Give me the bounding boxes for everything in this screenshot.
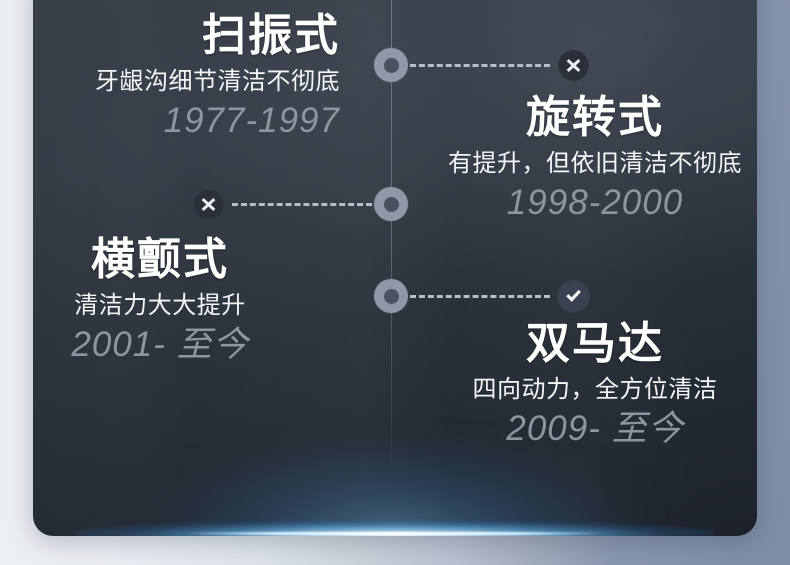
entry-text-lateral-vibration: 横颤式 清洁力大大提升 2001- 至今 [0, 238, 320, 364]
entry-title: 旋转式 [425, 96, 765, 141]
timeline-node-sweep-vibration[interactable] [374, 48, 408, 82]
entry-subtitle: 四向动力，全方位清洁 [425, 376, 765, 404]
entry-subtitle: 有提升，但依旧清洁不彻底 [425, 150, 765, 178]
timeline-node-rotation[interactable] [374, 187, 408, 221]
entry-text-dual-motor: 双马达 四向动力，全方位清洁 2009- 至今 [425, 322, 765, 448]
entry-title: 双马达 [425, 322, 765, 367]
entry-text-rotation: 旋转式 有提升，但依旧清洁不彻底 1998-2000 [425, 96, 765, 222]
entry-years: 2001- 至今 [0, 327, 320, 364]
entry-title: 扫振式 [0, 14, 340, 59]
entry-subtitle: 清洁力大大提升 [0, 292, 320, 320]
connector-dashed-line [232, 203, 372, 206]
entry-title: 横颤式 [0, 238, 320, 283]
entry-years: 1998-2000 [425, 185, 765, 222]
entry-years: 2009- 至今 [425, 411, 765, 448]
connector-dashed-line [410, 295, 550, 298]
promo-timeline-stage: 扫振式 牙龈沟细节清洁不彻底 1977-1997 旋转式 有提升，但依旧清洁不彻… [0, 0, 790, 565]
status-badge-cross[interactable] [193, 189, 224, 220]
status-badge-cross[interactable] [558, 50, 589, 81]
timeline-node-lateral-vibration[interactable] [374, 279, 408, 313]
connector-dashed-line [410, 64, 550, 67]
entry-years: 1977-1997 [0, 103, 340, 140]
entry-text-sweep-vibration: 扫振式 牙龈沟细节清洁不彻底 1977-1997 [0, 14, 340, 140]
entry-subtitle: 牙龈沟细节清洁不彻底 [0, 68, 340, 96]
status-badge-check[interactable] [558, 281, 589, 312]
